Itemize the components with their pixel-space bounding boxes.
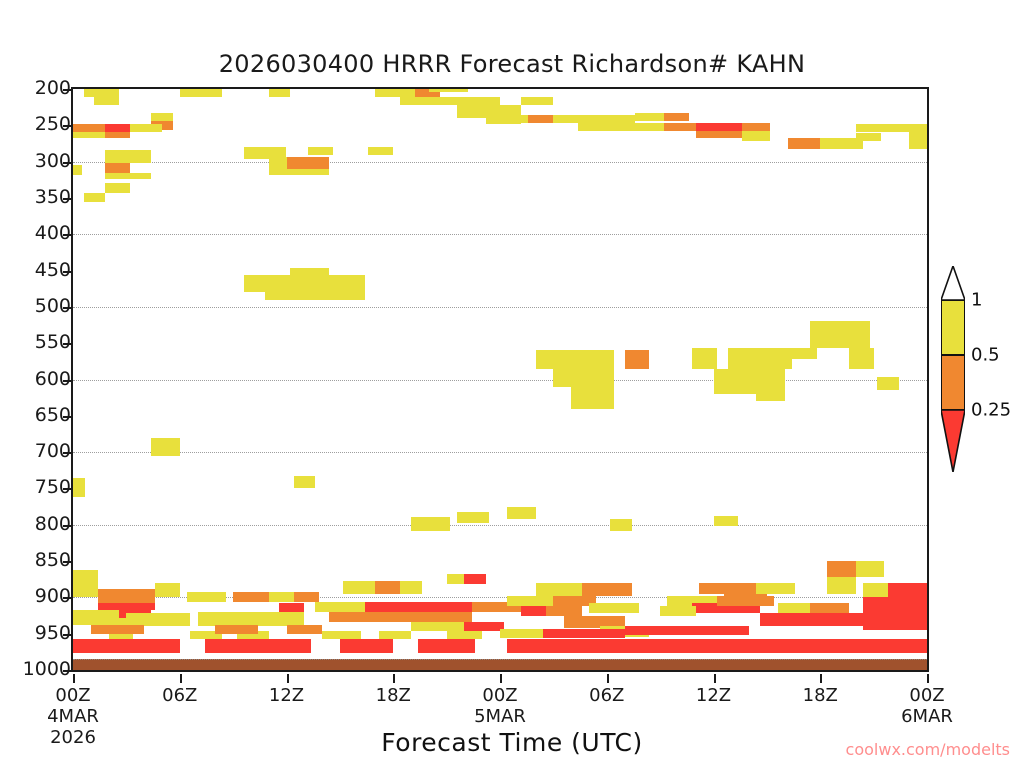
y-tick-label-950: 950	[9, 622, 71, 644]
heatmap-cell	[728, 348, 792, 369]
heatmap-cell	[180, 89, 223, 97]
colorbar-label-0.5: 0.5	[971, 345, 1000, 366]
heatmap-cell	[699, 583, 756, 595]
heatmap-cell	[379, 631, 411, 640]
heatmap-cell	[73, 570, 98, 598]
heatmap-cell	[582, 583, 632, 596]
y-tick-label-500: 500	[9, 295, 71, 317]
y-tick-label-350: 350	[9, 186, 71, 208]
heatmap-cell	[810, 321, 849, 347]
heatmap-cell	[457, 97, 500, 105]
heatmap-cell	[536, 583, 582, 596]
heatmap-cell	[233, 592, 269, 602]
heatmap-cell	[73, 165, 82, 174]
heatmap-cell	[400, 581, 421, 594]
heatmap-cell	[73, 132, 105, 139]
heatmap-cell	[151, 113, 172, 121]
heatmap-cell	[521, 97, 553, 105]
x-tick-label-6: 06Z	[162, 685, 197, 706]
heatmap-cell	[778, 603, 810, 613]
gridline-600	[73, 380, 927, 381]
heatmap-cell	[269, 169, 329, 175]
y-tick-label-300: 300	[9, 150, 71, 172]
heatmap-cell	[94, 97, 119, 105]
heatmap-cell	[73, 478, 85, 498]
heatmap-cell	[849, 348, 874, 369]
heatmap-cell	[375, 581, 400, 594]
x-tick-label-18: 18Z	[376, 685, 411, 706]
heatmap-cell	[571, 387, 614, 409]
heatmap-cell	[343, 581, 375, 594]
y-tick-label-1000: 1000	[9, 658, 71, 680]
x-tick-mark-30	[607, 674, 609, 683]
y-tick-label-850: 850	[9, 549, 71, 571]
heatmap-cell	[105, 150, 151, 163]
heatmap-cell	[877, 377, 898, 390]
heatmap-cell	[464, 622, 503, 631]
colorbar-label-0.25: 0.25	[971, 400, 1011, 421]
heatmap-cell	[756, 583, 795, 595]
heatmap-cell	[105, 124, 130, 132]
heatmap-cell	[543, 629, 625, 638]
colorbar-segment-0	[941, 300, 965, 355]
gridline-500	[73, 307, 927, 308]
heatmap-cell	[625, 626, 678, 635]
heatmap-cell	[105, 173, 151, 180]
heatmap-cell	[536, 350, 572, 368]
heatmap-cell	[756, 369, 784, 402]
heatmap-cell	[678, 626, 749, 635]
heatmap-cell	[546, 606, 582, 616]
heatmap-cell	[308, 147, 333, 155]
heatmap-cell	[856, 124, 909, 132]
gridline-700	[73, 452, 927, 453]
heatmap-cell	[457, 105, 485, 118]
x-tick-mark-6	[180, 674, 182, 683]
x-tick-mark-42	[820, 674, 822, 683]
heatmap-cell	[521, 606, 546, 616]
heatmap-cell	[507, 115, 528, 123]
y-tick-label-200: 200	[9, 77, 71, 99]
heatmap-cell	[187, 592, 226, 602]
y-tick-label-800: 800	[9, 513, 71, 535]
colorbar-segment-1	[941, 355, 965, 410]
x-tick-label-24: 00Z5MAR	[474, 685, 526, 727]
heatmap-cell	[393, 639, 418, 652]
heatmap-cell	[400, 97, 457, 105]
heatmap-cell	[279, 603, 304, 612]
heatmap-cell	[94, 89, 119, 97]
heatmap-cell	[265, 292, 365, 299]
x-tick-mark-18	[393, 674, 395, 683]
heatmap-cell	[269, 592, 294, 602]
heatmap-cell	[287, 625, 323, 634]
heatmap-cell	[155, 583, 180, 598]
y-tick-label-400: 400	[9, 222, 71, 244]
heatmap-cell	[311, 639, 339, 652]
gridline-surface	[73, 659, 927, 660]
heatmap-cell	[269, 89, 290, 97]
x-tick-label-42: 18Z	[803, 685, 838, 706]
x-tick-label-36: 12Z	[696, 685, 731, 706]
heatmap-cell	[429, 89, 468, 92]
heatmap-cell	[294, 476, 315, 488]
heatmap-cell	[635, 113, 663, 121]
heatmap-cell	[724, 594, 767, 603]
heatmap-cell	[888, 583, 927, 598]
heatmap-cell	[863, 612, 927, 630]
x-tick-mark-0	[73, 674, 75, 683]
x-tick-mark-12	[287, 674, 289, 683]
heatmap-cell	[475, 639, 507, 652]
y-tick-label-600: 600	[9, 368, 71, 390]
y-tick-label-900: 900	[9, 585, 71, 607]
x-tick-mark-24	[500, 674, 502, 683]
heatmap-cell	[610, 519, 631, 531]
heatmap-cell	[151, 438, 179, 457]
heatmap-cell	[215, 625, 258, 634]
heatmap-cell	[528, 115, 553, 123]
heatmap-cell	[290, 268, 329, 275]
x-tick-mark-36	[714, 674, 716, 683]
gridline-300	[73, 162, 927, 163]
x-tick-label-30: 06Z	[589, 685, 624, 706]
heatmap-cell	[84, 89, 95, 97]
heatmap-cell	[447, 574, 465, 584]
heatmap-cell	[315, 602, 365, 612]
heatmap-cell	[909, 124, 927, 139]
x-tick-mark-48	[927, 674, 929, 683]
heatmap-cell	[507, 596, 553, 606]
heatmap-cell	[714, 369, 757, 394]
heatmap-cell	[856, 133, 881, 142]
heatmap-cell	[792, 348, 817, 360]
heatmap-cells	[73, 89, 927, 670]
y-tick-label-550: 550	[9, 331, 71, 353]
watermark: coolwx.com/modelts	[846, 740, 1010, 759]
y-tick-label-250: 250	[9, 113, 71, 135]
heatmap-cell	[571, 350, 614, 368]
heatmap-cell	[660, 606, 696, 616]
heatmap-cell	[180, 639, 205, 652]
heatmap-cell	[105, 183, 130, 192]
heatmap-cell	[411, 517, 450, 530]
heatmap-cell	[322, 631, 361, 640]
heatmap-cell	[696, 131, 742, 138]
heatmap-cell	[73, 124, 105, 132]
heatmap-cell	[788, 138, 820, 149]
heatmap-cell	[714, 516, 739, 526]
heatmap-cell	[909, 138, 927, 149]
heatmap-cell	[589, 603, 639, 613]
x-tick-label-48: 00Z6MAR	[901, 685, 953, 727]
heatmap-cell	[130, 124, 162, 132]
colorbar-label-1: 1	[971, 290, 982, 311]
heatmap-cell	[760, 613, 863, 626]
heatmap-cell	[742, 131, 770, 141]
heatmap-cell	[500, 629, 543, 638]
heatmap-cell	[294, 592, 319, 602]
heatmap-cell	[553, 115, 635, 123]
colorbar-over-cap	[941, 266, 965, 300]
heatmap-cell	[411, 622, 464, 631]
heatmap-cell	[696, 123, 742, 131]
heatmap-cell	[287, 157, 330, 169]
y-tick-label-650: 650	[9, 404, 71, 426]
heatmap-cell	[457, 512, 489, 524]
heatmap-cell	[105, 132, 130, 139]
richardson-number-colorbar: 10.50.25	[941, 300, 967, 475]
gridline-800	[73, 525, 927, 526]
y-tick-label-700: 700	[9, 440, 71, 462]
pressure-axis: 2002503003504004505005506006507007508008…	[0, 87, 71, 672]
x-tick-label-12: 12Z	[269, 685, 304, 706]
heatmap-cell	[553, 369, 589, 387]
heatmap-cell	[98, 589, 155, 604]
heatmap-cell	[742, 123, 770, 131]
heatmap-cell	[365, 602, 472, 612]
heatmap-cell	[810, 603, 849, 613]
heatmap-cell	[507, 507, 535, 519]
y-tick-label-450: 450	[9, 259, 71, 281]
heatmap-plot-area	[71, 87, 929, 672]
heatmap-cell	[447, 631, 483, 640]
heatmap-cell	[464, 574, 485, 584]
chart-title: 2026030400 HRRR Forecast Richardson# KAH…	[0, 50, 1024, 78]
colorbar-under-cap	[941, 410, 965, 472]
heatmap-cell	[827, 577, 855, 594]
heatmap-cell	[625, 350, 650, 368]
heatmap-cell	[244, 275, 365, 292]
heatmap-cell	[578, 123, 663, 131]
heatmap-cell	[329, 612, 471, 622]
heatmap-cell	[73, 610, 94, 625]
heatmap-cell	[368, 147, 393, 155]
heatmap-cell	[863, 597, 927, 612]
heatmap-cell	[664, 123, 696, 131]
heatmap-cell	[91, 625, 144, 634]
heatmap-cell	[84, 193, 105, 202]
gridline-400	[73, 234, 927, 235]
heatmap-cell	[664, 113, 689, 121]
y-tick-label-750: 750	[9, 476, 71, 498]
heatmap-cell	[375, 89, 414, 97]
heatmap-cell	[856, 561, 884, 577]
heatmap-cell	[692, 348, 717, 369]
terrain-fill	[73, 659, 927, 670]
heatmap-cell	[105, 163, 130, 172]
heatmap-cell	[827, 561, 855, 577]
